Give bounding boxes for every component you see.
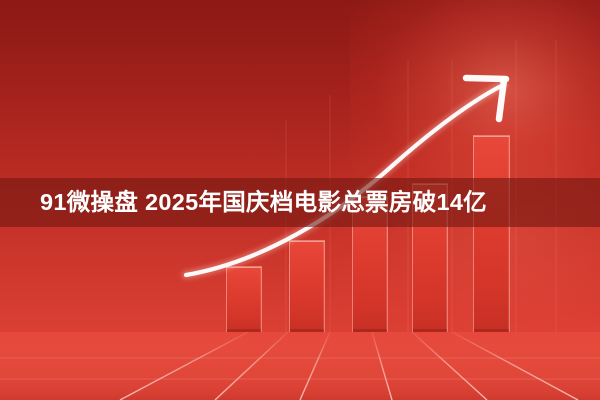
chart-bar-1 — [226, 266, 262, 333]
headline-band: 91微操盘 2025年国庆档电影总票房破14亿 — [0, 178, 600, 227]
chart-bar-5 — [473, 135, 510, 333]
perspective-floor — [0, 332, 600, 400]
page-title: 91微操盘 2025年国庆档电影总票房破14亿 — [40, 191, 487, 215]
chart-bar-2 — [289, 240, 325, 333]
promo-banner: 91微操盘 2025年国庆档电影总票房破14亿 — [0, 0, 600, 400]
